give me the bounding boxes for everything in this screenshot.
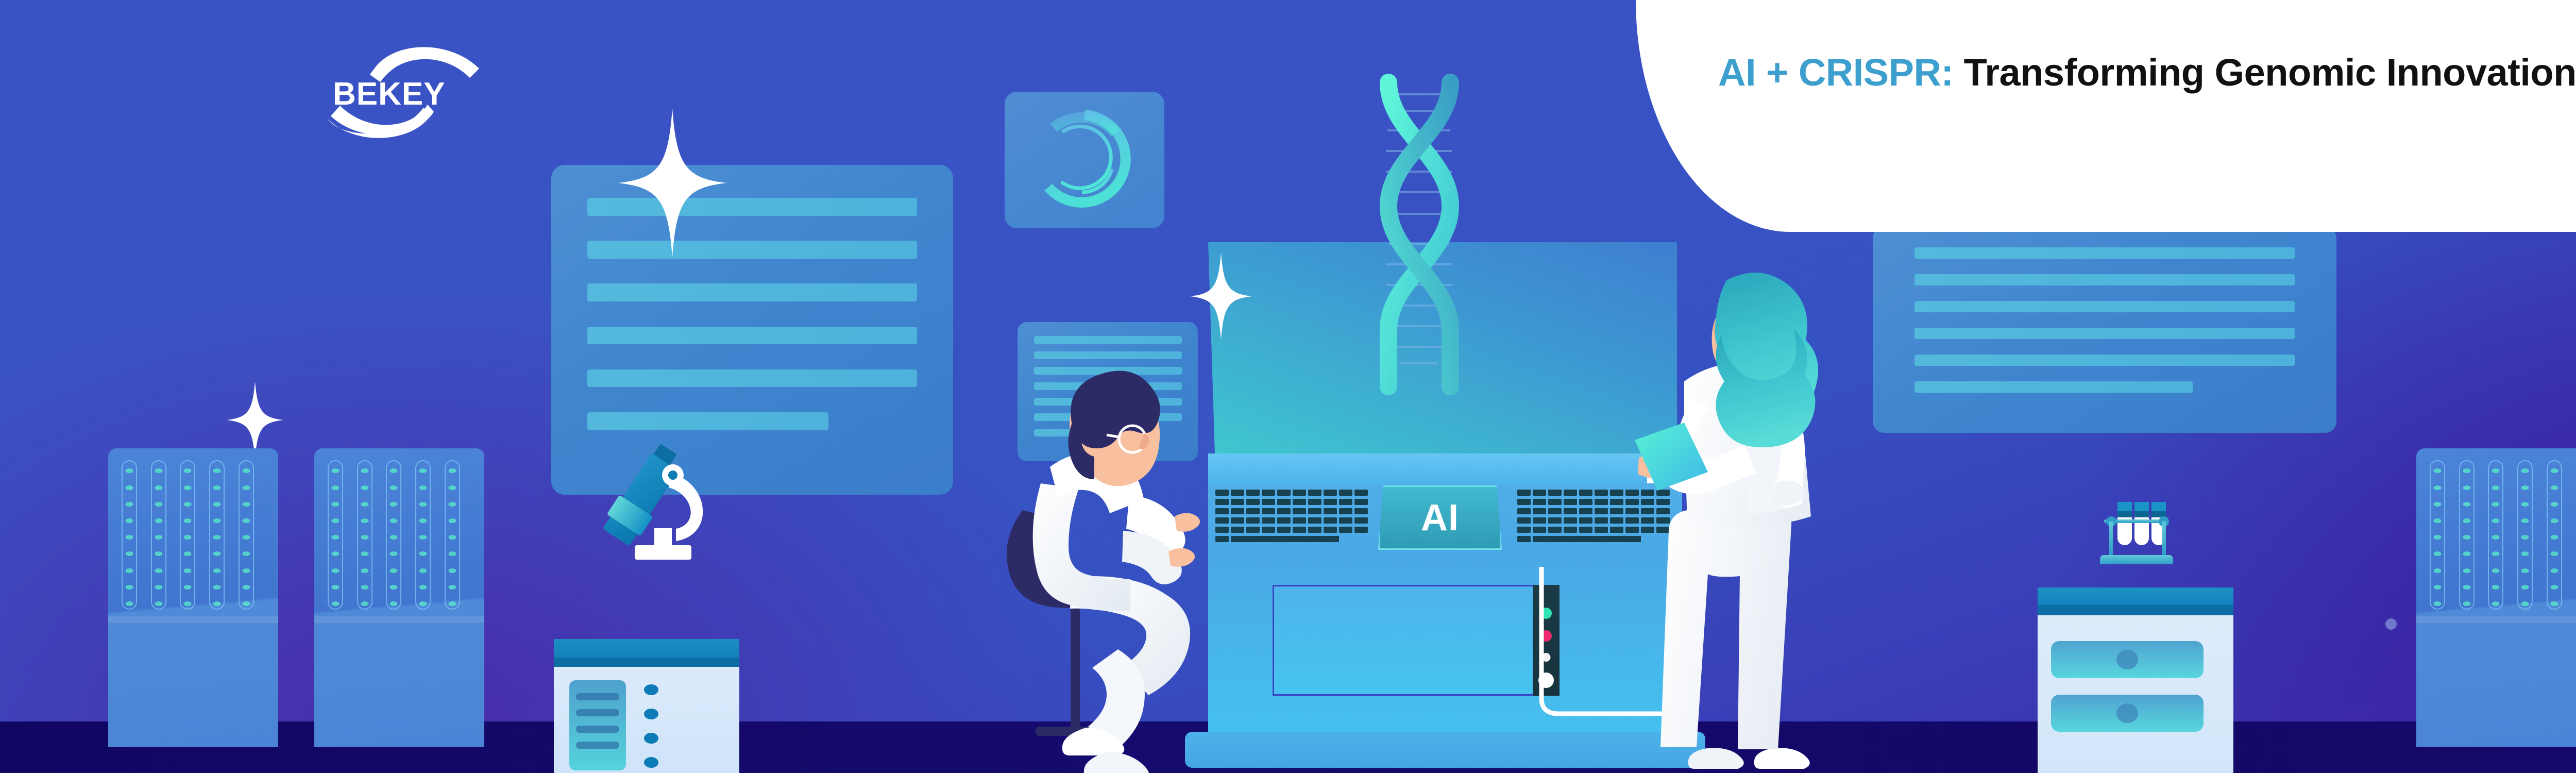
rack-slot	[328, 460, 343, 610]
rack-led	[390, 535, 398, 540]
rack-led	[184, 468, 192, 473]
rack-led	[2434, 485, 2442, 490]
station-indicator-dots	[644, 684, 658, 773]
rack-led	[448, 551, 456, 556]
doc-line	[1034, 351, 1182, 359]
keyboard-key[interactable]	[1354, 499, 1368, 505]
doc-line	[587, 283, 917, 301]
keyboard-key[interactable]	[1324, 517, 1337, 524]
rack-seam	[314, 616, 484, 623]
rack-led	[390, 468, 398, 473]
rack-led	[155, 551, 162, 556]
rack-led	[2492, 468, 2500, 473]
doc-line	[1914, 381, 2193, 393]
rack-led	[419, 468, 427, 473]
rack-slot	[122, 460, 137, 610]
station-panel-line	[576, 709, 619, 716]
rack-led	[361, 485, 368, 490]
rack-led	[2434, 535, 2442, 540]
rack-led	[332, 535, 340, 540]
rack-led	[242, 518, 250, 523]
rack-led	[126, 535, 133, 540]
rack-led	[2492, 585, 2500, 590]
rack-led	[126, 551, 133, 556]
page-title: AI + CRISPR: Transforming Genomic Innova…	[1718, 47, 2576, 98]
rack-led	[2434, 601, 2442, 606]
rack-led	[242, 535, 250, 540]
cabinet-body	[2038, 615, 2233, 773]
document-panel-right	[1873, 227, 2336, 433]
rack-led	[155, 568, 162, 573]
keyboard-key[interactable]	[1548, 517, 1562, 524]
rack-led	[213, 601, 221, 606]
cabinet-top-edge	[2038, 605, 2233, 615]
rack-led	[213, 468, 221, 473]
tech-circle-panel	[1005, 92, 1164, 228]
keyboard-key[interactable]	[1339, 499, 1352, 505]
rack-led	[419, 518, 427, 523]
keyboard-key[interactable]	[1517, 490, 1531, 496]
rack-led	[242, 502, 250, 507]
rack-led	[2463, 568, 2470, 573]
rack-led	[2492, 551, 2500, 556]
rack-led	[2492, 568, 2500, 573]
title-card: AI + CRISPR: Transforming Genomic Innova…	[1636, 0, 2576, 232]
title-accent: AI + CRISPR:	[1718, 51, 1954, 94]
rack-led	[155, 502, 162, 507]
station-indicator-dot	[644, 709, 658, 719]
keyboard-key[interactable]	[1564, 508, 1577, 514]
rack-led	[419, 551, 427, 556]
doc-line	[1914, 274, 2295, 285]
rack-led	[448, 518, 456, 523]
keyboard-key[interactable]	[1533, 490, 1546, 496]
rack-led	[2550, 568, 2558, 573]
station-indicator-dot	[644, 684, 658, 695]
keyboard-key[interactable]	[1548, 508, 1562, 514]
keyboard-key[interactable]	[1517, 527, 1531, 533]
keyboard-key[interactable]	[1579, 508, 1592, 514]
rack-seam	[2416, 616, 2576, 623]
doc-line	[1034, 336, 1182, 344]
rack-led	[2550, 601, 2558, 606]
rack-led	[242, 601, 250, 606]
rack-led	[2550, 485, 2558, 490]
rack-led	[332, 468, 340, 473]
sparkle-lower-left-icon	[227, 381, 283, 459]
ai-display-key[interactable]: AI	[1378, 485, 1502, 550]
rack-led	[2521, 535, 2529, 540]
keyboard-key[interactable]	[1595, 490, 1608, 496]
doc-line	[1914, 247, 2295, 259]
rack-led	[2434, 502, 2442, 507]
server-rack-left-1	[108, 448, 278, 747]
rack-led	[332, 551, 340, 556]
rack-led	[390, 518, 398, 523]
sparkle-center-icon	[1190, 253, 1252, 340]
doc-line	[587, 369, 917, 388]
rack-led	[155, 518, 162, 523]
keyboard-key[interactable]	[1564, 517, 1577, 524]
rack-led	[242, 585, 250, 590]
rack-led	[2463, 601, 2470, 606]
station-indicator-dot	[644, 733, 658, 744]
keyboard-key[interactable]	[1354, 517, 1368, 524]
rack-led	[2492, 601, 2500, 606]
rack-led	[2463, 518, 2470, 523]
doc-line	[587, 412, 828, 430]
doc-line	[1914, 328, 2295, 339]
keyboard-key[interactable]	[1533, 499, 1546, 505]
dna-helix-icon	[1340, 64, 1494, 405]
rack-led	[184, 551, 192, 556]
rack-led	[2550, 551, 2558, 556]
keyboard-key[interactable]	[1339, 508, 1352, 514]
rack-led	[2463, 535, 2470, 540]
rack-led	[390, 601, 398, 606]
rack-led	[126, 568, 133, 573]
rack-led	[2434, 468, 2442, 473]
keyboard-key[interactable]	[1595, 527, 1608, 533]
rack-led	[184, 502, 192, 507]
rack-led	[184, 568, 192, 573]
rack-led	[448, 568, 456, 573]
rack-led	[242, 568, 250, 573]
rack-led	[419, 568, 427, 573]
rack-led	[2550, 468, 2558, 473]
decorative-dot	[2385, 618, 2397, 630]
rack-led	[126, 485, 133, 490]
rack-led	[390, 585, 398, 590]
rack-led	[242, 468, 250, 473]
rack-led	[213, 502, 221, 507]
svg-text:BEKEY: BEKEY	[333, 76, 446, 112]
rack-led	[184, 518, 192, 523]
keyboard-key[interactable]	[1517, 508, 1531, 514]
standing-scientist	[1620, 253, 1826, 773]
sparkle-top-left-icon	[618, 108, 726, 258]
rack-led	[126, 502, 133, 507]
rack-led	[419, 535, 427, 540]
keyboard-key[interactable]	[1595, 517, 1608, 524]
keyboard-key[interactable]	[1517, 517, 1531, 524]
rack-led	[2521, 485, 2529, 490]
rack-led	[184, 535, 192, 540]
server-rack-right-1	[2416, 448, 2576, 747]
rack-led	[361, 468, 368, 473]
rack-led	[2550, 502, 2558, 507]
keyboard-key[interactable]	[1354, 527, 1368, 533]
drawer-knob	[2116, 650, 2138, 669]
keyboard-key[interactable]	[1564, 499, 1577, 505]
rack-led	[155, 468, 162, 473]
rack-led	[155, 485, 162, 490]
rack-led	[126, 585, 133, 590]
keyboard-key[interactable]	[1324, 527, 1337, 533]
keyboard-key[interactable]	[1579, 517, 1592, 524]
drawer-knob	[2116, 703, 2138, 723]
test-tube-rack	[2066, 500, 2202, 593]
rack-slot	[239, 460, 254, 610]
rack-slot	[209, 460, 225, 610]
keyboard-key[interactable]	[1533, 508, 1546, 514]
rack-led	[448, 601, 456, 606]
lab-cabinet-right	[2038, 587, 2233, 773]
rack-led	[2550, 535, 2558, 540]
rack-led	[213, 568, 221, 573]
keyboard-key[interactable]	[1339, 490, 1352, 496]
keyboard-key[interactable]	[1533, 517, 1546, 524]
rack-led	[2521, 518, 2529, 523]
rack-led	[242, 485, 250, 490]
keyboard-key[interactable]	[1354, 508, 1368, 514]
rack-led	[361, 551, 368, 556]
rack-led	[184, 601, 192, 606]
rack-slot	[357, 460, 372, 610]
rack-led	[361, 535, 368, 540]
rack-led	[361, 568, 368, 573]
rack-led	[2521, 585, 2529, 590]
station-indicator-dot	[644, 757, 658, 768]
rack-led	[419, 601, 427, 606]
rack-led	[390, 485, 398, 490]
rack-led	[2463, 502, 2470, 507]
rack-slot	[445, 460, 460, 610]
cabinet-drawer-2[interactable]	[2051, 695, 2204, 732]
rack-led	[2434, 518, 2442, 523]
keyboard-key[interactable]	[1324, 499, 1337, 505]
station-control-panel	[569, 680, 626, 770]
station-panel-line	[576, 693, 619, 700]
rack-led	[2492, 485, 2500, 490]
rack-led	[2521, 568, 2529, 573]
keyboard-key[interactable]	[1564, 527, 1577, 533]
rack-slot	[415, 460, 431, 610]
rack-led	[2463, 551, 2470, 556]
rack-led	[2434, 585, 2442, 590]
rack-slot	[151, 460, 166, 610]
rack-led	[2521, 601, 2529, 606]
rack-led	[361, 518, 368, 523]
rack-led	[2521, 551, 2529, 556]
rack-led	[2550, 518, 2558, 523]
rack-led	[126, 518, 133, 523]
rack-led	[448, 535, 456, 540]
rack-led	[2521, 468, 2529, 473]
rack-slot	[386, 460, 401, 610]
rack-led	[2550, 585, 2558, 590]
keyboard-key[interactable]	[1579, 490, 1592, 496]
keyboard-key[interactable]	[1324, 508, 1337, 514]
rack-led	[213, 585, 221, 590]
bekey-logo[interactable]: BEKEY	[309, 28, 495, 152]
rack-led	[213, 485, 221, 490]
rack-slot	[2488, 460, 2503, 610]
station-panel-line	[576, 742, 619, 749]
keyboard-key[interactable]	[1548, 490, 1562, 496]
rack-led	[155, 601, 162, 606]
keyboard-key[interactable]	[1354, 490, 1368, 496]
rack-led	[419, 485, 427, 490]
rack-slot	[2430, 460, 2445, 610]
rack-seam	[108, 616, 278, 623]
rack-slot	[2459, 460, 2475, 610]
rack-slot	[2517, 460, 2533, 610]
rack-led	[332, 601, 340, 606]
rack-led	[419, 502, 427, 507]
keyboard-key[interactable]	[1579, 527, 1592, 533]
rack-led	[2492, 535, 2500, 540]
keyboard-key[interactable]	[1517, 499, 1531, 505]
rack-led	[361, 601, 368, 606]
rack-led	[332, 585, 340, 590]
rack-led	[213, 551, 221, 556]
rack-led	[2492, 502, 2500, 507]
station-panel-line	[576, 726, 619, 733]
rack-led	[2492, 518, 2500, 523]
keyboard-key[interactable]	[1579, 499, 1592, 505]
microscope-icon	[577, 443, 732, 644]
seated-scientist	[994, 361, 1324, 773]
rack-led	[2434, 551, 2442, 556]
rack-led	[242, 551, 250, 556]
rack-led	[155, 535, 162, 540]
keyboard-key[interactable]	[1548, 499, 1562, 505]
keyboard-key[interactable]	[1339, 517, 1352, 524]
keyboard-key[interactable]	[1533, 527, 1546, 533]
cabinet-top	[2038, 587, 2233, 605]
rack-led	[390, 502, 398, 507]
rack-led	[390, 551, 398, 556]
keyboard-key[interactable]	[1548, 527, 1562, 533]
rack-slot	[2547, 460, 2562, 610]
doc-line	[587, 327, 917, 345]
rack-led	[448, 485, 456, 490]
rack-led	[448, 468, 456, 473]
rack-led	[126, 601, 133, 606]
rack-led	[448, 585, 456, 590]
rack-led	[448, 502, 456, 507]
keyboard-key[interactable]	[1564, 490, 1577, 496]
rack-led	[213, 518, 221, 523]
rack-led	[332, 518, 340, 523]
rack-led	[390, 568, 398, 573]
rack-led	[184, 585, 192, 590]
keyboard-key[interactable]	[1324, 490, 1337, 496]
rack-led	[2434, 568, 2442, 573]
rack-led	[419, 585, 427, 590]
rack-led	[332, 502, 340, 507]
rack-led	[361, 502, 368, 507]
keyboard-key[interactable]	[1517, 536, 1531, 542]
rack-led	[126, 468, 133, 473]
server-rack-left-2	[314, 448, 484, 747]
rack-led	[2463, 468, 2470, 473]
title-rest: Transforming Genomic Innovation	[1954, 51, 2576, 94]
rack-led	[2521, 502, 2529, 507]
doc-line	[1914, 301, 2295, 312]
station-cabinet-edge	[554, 658, 739, 667]
rack-led	[213, 535, 221, 540]
rack-slot	[180, 460, 195, 610]
keyboard-key[interactable]	[1595, 499, 1608, 505]
rack-led	[332, 568, 340, 573]
cabinet-drawer-1[interactable]	[2051, 641, 2204, 678]
doc-line	[1914, 355, 2295, 366]
keyboard-key[interactable]	[1595, 508, 1608, 514]
rack-led	[361, 585, 368, 590]
rack-led	[2463, 485, 2470, 490]
rack-led	[155, 585, 162, 590]
microscope-station	[554, 639, 739, 773]
keyboard-key[interactable]	[1339, 527, 1352, 533]
hero-banner: AI	[0, 0, 2576, 773]
station-cabinet-top	[554, 639, 739, 658]
rack-led	[184, 485, 192, 490]
rack-led	[2463, 585, 2470, 590]
rack-led	[332, 485, 340, 490]
